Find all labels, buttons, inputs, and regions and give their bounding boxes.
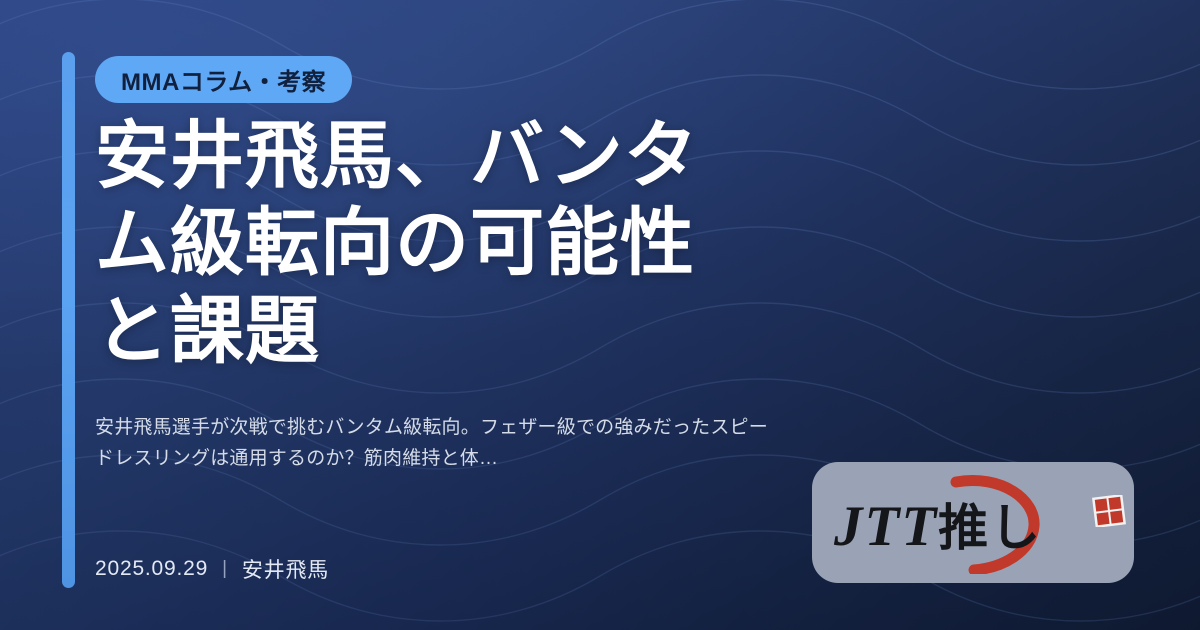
title-line-2: ム級転向の可能性 (95, 199, 825, 286)
red-square-icon (1092, 495, 1126, 527)
og-card: MMAコラム・考察 安井飛馬、バンタ ム級転向の可能性 と課題 安井飛馬選手が次… (0, 0, 1200, 630)
left-accent-bar (62, 52, 75, 588)
author-name: 安井飛馬 (242, 554, 329, 584)
title-line-1: 安井飛馬、バンタ (95, 112, 825, 199)
publish-date: 2025.09.29 (95, 557, 208, 581)
article-meta: 2025.09.29 | 安井飛馬 (95, 554, 329, 584)
meta-separator: | (222, 558, 228, 580)
category-badge[interactable]: MMAコラム・考察 (95, 56, 352, 103)
title-line-3: と課題 (95, 287, 825, 374)
logo-inner: JTT推し (812, 462, 1134, 583)
page-title: 安井飛馬、バンタ ム級転向の可能性 と課題 (95, 112, 825, 374)
logo-wordmark-text: JTT (834, 495, 938, 558)
logo-suffix-text: 推し (938, 499, 1042, 557)
card-content: MMAコラム・考察 安井飛馬、バンタ ム級転向の可能性 と課題 安井飛馬選手が次… (95, 0, 815, 630)
article-description: 安井飛馬選手が次戦で挑むバンタム級転向。フェザー級での強みだったスピードレスリン… (95, 412, 785, 475)
site-logo[interactable]: JTT推し (812, 462, 1134, 583)
logo-wordmark: JTT推し (834, 488, 1042, 560)
